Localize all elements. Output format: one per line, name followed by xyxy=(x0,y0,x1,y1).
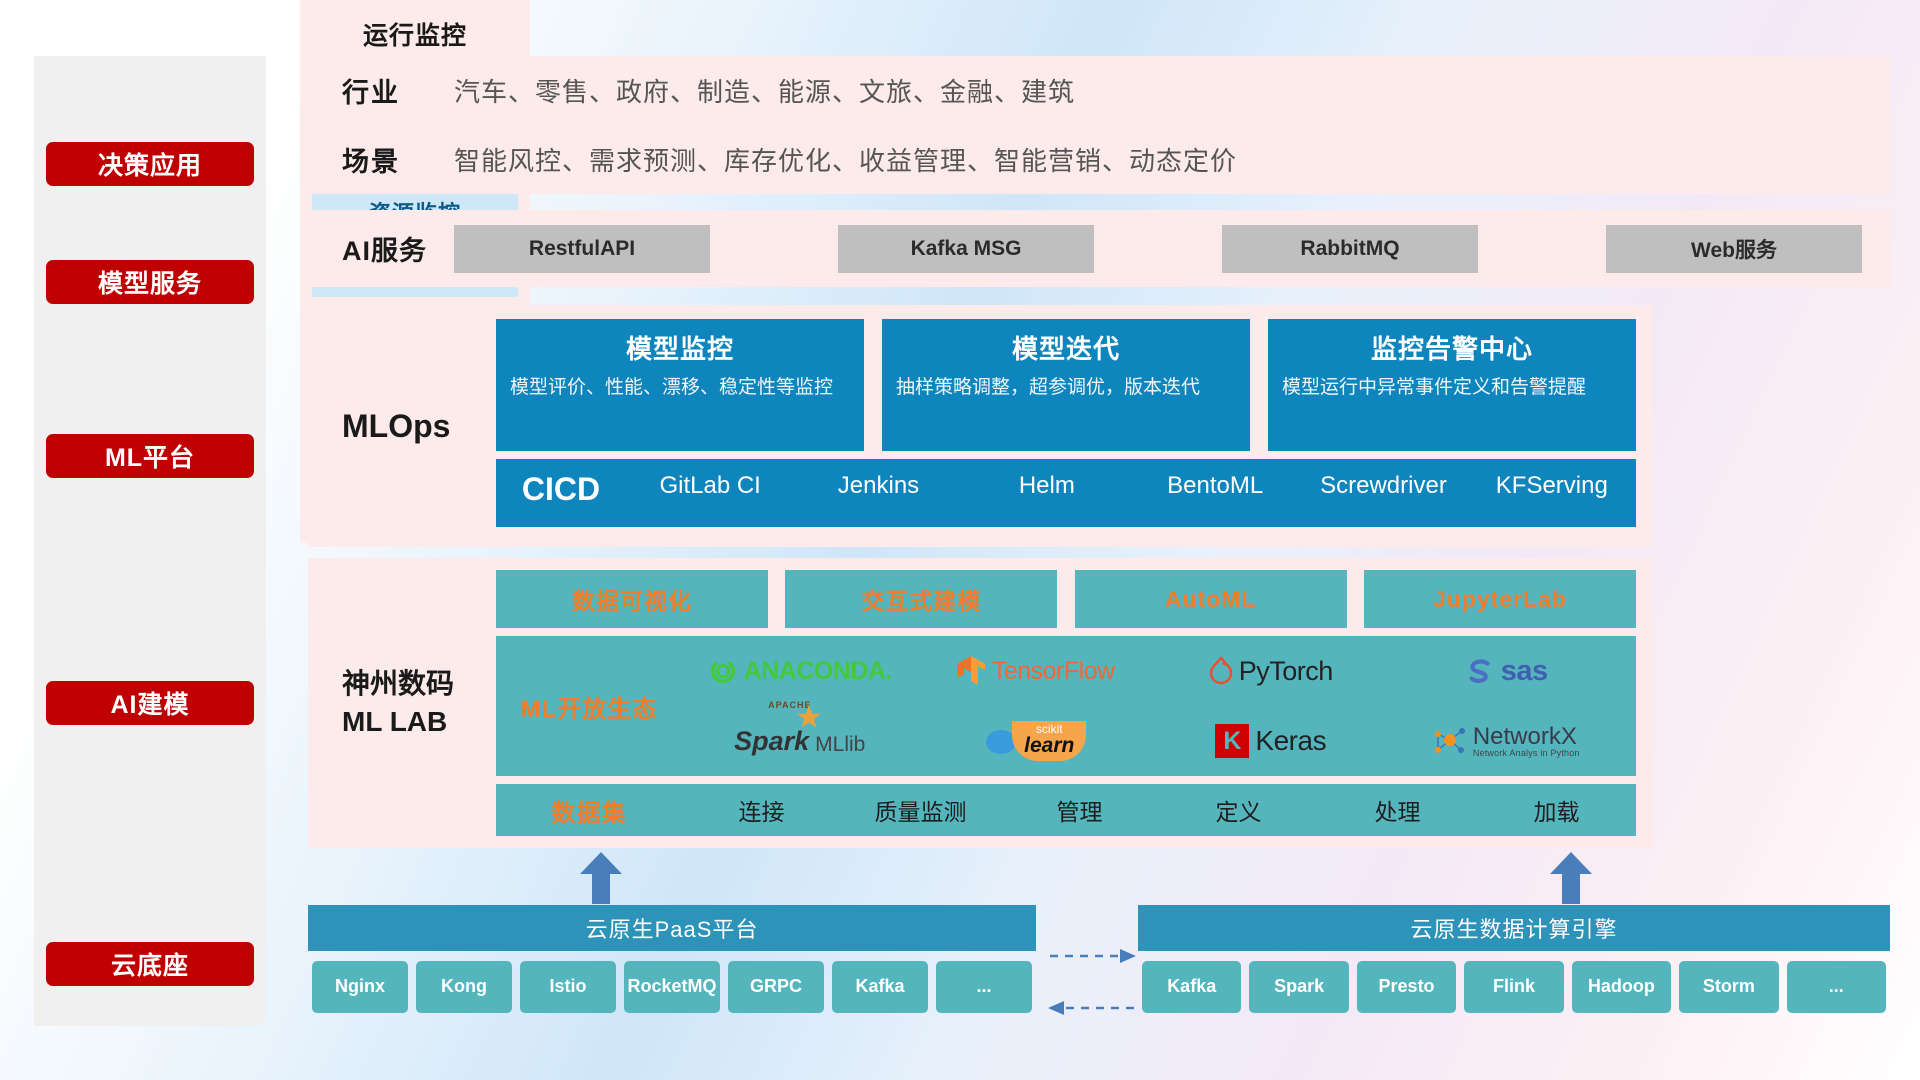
ml-lab-label-line1: 神州数码 xyxy=(342,665,502,703)
mlops-card-title: 模型迭代 xyxy=(896,329,1236,366)
networkx-logo: NetworkX Network Analys in Python xyxy=(1433,725,1580,758)
cloud-chip-spark[interactable]: Spark xyxy=(1249,961,1348,1013)
application-row-scenario: 场景 智能风控、需求预测、库存优化、收益管理、智能营销、动态定价 xyxy=(308,125,1890,194)
ai-service-chip-restfulapi[interactable]: RestfulAPI xyxy=(454,225,710,273)
dataset-row: 数据集 连接 质量监测 管理 定义 处理 加载 xyxy=(496,784,1636,836)
dataset-item-manage[interactable]: 管理 xyxy=(1000,793,1159,827)
cicd-bar: CICD GitLab CI Jenkins Helm BentoML Scre… xyxy=(496,459,1636,527)
ai-service-items: RestfulAPI Kafka MSG RabbitMQ Web服务 xyxy=(454,225,1890,273)
cloud-chip-more[interactable]: ... xyxy=(1787,961,1886,1013)
scikit-orange-blob: scikit learn xyxy=(1012,721,1086,761)
rail-item-label: 决策应用 xyxy=(98,146,202,182)
scikit-bottom-label: learn xyxy=(1024,735,1074,757)
mlops-card-desc: 抽样策略调整，超参调优，版本迭代 xyxy=(896,375,1236,401)
ml-lab-top-chips: 数据可视化 交互式建模 AutoML JupyterLab xyxy=(496,570,1636,628)
cloud-chip-storm[interactable]: Storm xyxy=(1679,961,1778,1013)
arrow-up-paas-icon xyxy=(580,852,622,904)
mlops-label: MLOps xyxy=(342,305,492,547)
cloud-chip-more[interactable]: ... xyxy=(936,961,1032,1013)
cloud-chip-flink[interactable]: Flink xyxy=(1464,961,1563,1013)
ml-ecosystem-logos: ANACONDA. TensorFlow xyxy=(682,636,1636,776)
cloud-paas-title: 云原生PaaS平台 xyxy=(308,905,1036,951)
lab-chip-data-visualization[interactable]: 数据可视化 xyxy=(496,570,768,628)
keras-logo: K Keras xyxy=(1215,724,1326,758)
ml-lab-band: 神州数码 ML LAB 数据可视化 交互式建模 AutoML JupyterLa… xyxy=(308,558,1653,848)
cicd-item-jenkins[interactable]: Jenkins xyxy=(794,471,962,501)
bidirectional-dashed-arrows-icon xyxy=(1048,940,1136,1024)
cloud-paas-block: 云原生PaaS平台 Nginx Kong Istio RocketMQ GRPC… xyxy=(308,905,1036,1013)
tensorflow-logo: TensorFlow xyxy=(956,655,1115,687)
cicd-item-helm[interactable]: Helm xyxy=(963,471,1131,501)
ai-service-band: AI服务 RestfulAPI Kafka MSG RabbitMQ Web服务 xyxy=(308,210,1890,287)
cicd-label: CICD xyxy=(496,471,626,508)
rail-item-model-service[interactable]: 模型服务 xyxy=(46,260,254,304)
lab-chip-interactive-modeling[interactable]: 交互式建模 xyxy=(785,570,1057,628)
networkx-subtitle: Network Analys in Python xyxy=(1473,749,1580,758)
networkx-wordmark: NetworkX xyxy=(1473,725,1580,749)
ai-service-chip-rabbitmq[interactable]: RabbitMQ xyxy=(1222,225,1478,273)
cicd-item-bentoml[interactable]: BentoML xyxy=(1131,471,1299,501)
dataset-label: 数据集 xyxy=(496,793,682,828)
networkx-graph-icon xyxy=(1433,725,1467,757)
tensorflow-icon xyxy=(956,655,986,687)
spark-mllib-logo: APACHE Spark MLlib xyxy=(734,726,865,757)
cloud-chip-kong[interactable]: Kong xyxy=(416,961,512,1013)
ai-service-chip-kafka-msg[interactable]: Kafka MSG xyxy=(838,225,1094,273)
mllib-wordmark: MLlib xyxy=(815,733,865,757)
dataset-item-define[interactable]: 定义 xyxy=(1159,793,1318,827)
scenario-value: 智能风控、需求预测、库存优化、收益管理、智能营销、动态定价 xyxy=(454,141,1237,178)
pytorch-logo: PyTorch xyxy=(1209,656,1333,687)
dataset-item-quality-monitor[interactable]: 质量监测 xyxy=(841,793,1000,827)
anaconda-icon xyxy=(708,656,738,686)
ai-service-label: AI服务 xyxy=(342,229,454,268)
cloud-chip-grpc[interactable]: GRPC xyxy=(728,961,824,1013)
cloud-chip-kafka[interactable]: Kafka xyxy=(832,961,928,1013)
cloud-chip-rocketmq[interactable]: RocketMQ xyxy=(624,961,720,1013)
cloud-chip-kafka[interactable]: Kafka xyxy=(1142,961,1241,1013)
mlops-cards: 模型监控 模型评价、性能、漂移、稳定性等监控 模型迭代 抽样策略调整，超参调优，… xyxy=(496,319,1636,451)
anaconda-wordmark: ANACONDA. xyxy=(744,657,892,686)
diagram-main: 行业 汽车、零售、政府、制造、能源、文旅、金融、建筑 场景 智能风控、需求预测、… xyxy=(300,0,1890,1080)
cicd-item-gitlab-ci[interactable]: GitLab CI xyxy=(626,471,794,501)
mlops-card-alert-center[interactable]: 监控告警中心 模型运行中异常事件定义和告警提醒 xyxy=(1268,319,1636,451)
tensorflow-wordmark: TensorFlow xyxy=(992,657,1115,686)
dataset-item-process[interactable]: 处理 xyxy=(1318,793,1477,827)
rail-item-ml-platform[interactable]: ML平台 xyxy=(46,434,254,478)
spark-wordmark: Spark xyxy=(734,726,809,757)
mlops-band: MLOps 模型监控 模型评价、性能、漂移、稳定性等监控 模型迭代 抽样策略调整… xyxy=(308,305,1653,547)
cloud-chip-presto[interactable]: Presto xyxy=(1357,961,1456,1013)
dataset-item-load[interactable]: 加载 xyxy=(1477,793,1636,827)
ml-ecosystem-label: ML开放生态 xyxy=(496,689,682,724)
ml-lab-label-line2: ML LAB xyxy=(342,703,502,741)
lab-chip-jupyterlab[interactable]: JupyterLab xyxy=(1364,570,1636,628)
cloud-chip-hadoop[interactable]: Hadoop xyxy=(1572,961,1671,1013)
pytorch-wordmark: PyTorch xyxy=(1239,656,1333,687)
mlops-card-desc: 模型评价、性能、漂移、稳定性等监控 xyxy=(510,375,850,401)
mlops-card-model-monitoring[interactable]: 模型监控 模型评价、性能、漂移、稳定性等监控 xyxy=(496,319,864,451)
cloud-paas-chips: Nginx Kong Istio RocketMQ GRPC Kafka ... xyxy=(308,951,1036,1013)
mlops-card-title: 监控告警中心 xyxy=(1282,329,1622,366)
monitoring-title: 运行监控 xyxy=(300,0,530,52)
rail-item-label: AI建模 xyxy=(110,685,189,721)
rail-item-decision-app[interactable]: 决策应用 xyxy=(46,142,254,186)
ml-ecosystem-panel: ML开放生态 ANACONDA. xyxy=(496,636,1636,776)
scikit-learn-logo: scikit learn xyxy=(984,721,1086,761)
sas-wordmark: sas xyxy=(1501,655,1548,688)
layer-rail: 决策应用 模型服务 ML平台 AI建模 云底座 xyxy=(34,56,266,1026)
rail-item-cloud-base[interactable]: 云底座 xyxy=(46,942,254,986)
mlops-card-model-iteration[interactable]: 模型迭代 抽样策略调整，超参调优，版本迭代 xyxy=(882,319,1250,451)
rail-item-label: 云底座 xyxy=(111,946,189,982)
mlops-card-title: 模型监控 xyxy=(510,329,850,366)
mlops-card-desc: 模型运行中异常事件定义和告警提醒 xyxy=(1282,375,1622,401)
industry-value: 汽车、零售、政府、制造、能源、文旅、金融、建筑 xyxy=(454,72,1075,109)
cloud-data-engine-block: 云原生数据计算引擎 Kafka Spark Presto Flink Hadoo… xyxy=(1138,905,1890,1013)
dataset-items: 连接 质量监测 管理 定义 处理 加载 xyxy=(682,793,1636,827)
lab-chip-automl[interactable]: AutoML xyxy=(1075,570,1347,628)
ml-lab-label: 神州数码 ML LAB xyxy=(342,558,502,848)
cloud-data-engine-chips: Kafka Spark Presto Flink Hadoop Storm ..… xyxy=(1138,951,1890,1013)
application-row-industry: 行业 汽车、零售、政府、制造、能源、文旅、金融、建筑 xyxy=(308,56,1890,125)
cloud-chip-istio[interactable]: Istio xyxy=(520,961,616,1013)
cicd-item-kfserving[interactable]: KFServing xyxy=(1468,471,1636,501)
cloud-chip-nginx[interactable]: Nginx xyxy=(312,961,408,1013)
rail-item-ai-modeling[interactable]: AI建模 xyxy=(46,681,254,725)
sas-icon xyxy=(1465,656,1495,686)
rail-item-label: ML平台 xyxy=(105,438,195,474)
cicd-item-screwdriver[interactable]: Screwdriver xyxy=(1299,471,1467,501)
applications-band: 行业 汽车、零售、政府、制造、能源、文旅、金融、建筑 场景 智能风控、需求预测、… xyxy=(308,56,1890,194)
scenario-key: 场景 xyxy=(342,140,454,179)
keras-mark-icon: K xyxy=(1215,724,1249,758)
cicd-items: GitLab CI Jenkins Helm BentoML Screwdriv… xyxy=(626,471,1636,501)
industry-key: 行业 xyxy=(342,71,454,110)
keras-wordmark: Keras xyxy=(1255,725,1326,757)
cloud-data-engine-title: 云原生数据计算引擎 xyxy=(1138,905,1890,951)
pytorch-icon xyxy=(1209,656,1233,686)
sas-logo: sas xyxy=(1465,655,1548,688)
arrow-up-data-engine-icon xyxy=(1550,852,1592,904)
anaconda-logo: ANACONDA. xyxy=(708,656,892,686)
spark-star-icon xyxy=(796,704,822,730)
rail-item-label: 模型服务 xyxy=(98,264,202,300)
dataset-item-connect[interactable]: 连接 xyxy=(682,793,841,827)
ai-service-chip-web-service[interactable]: Web服务 xyxy=(1606,225,1862,273)
